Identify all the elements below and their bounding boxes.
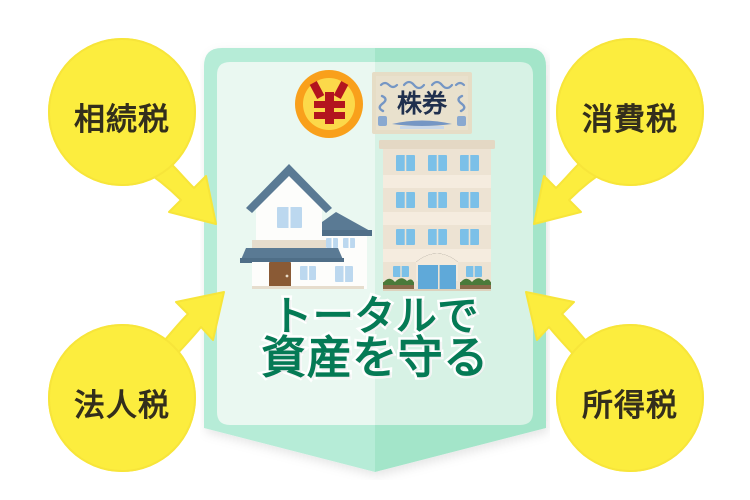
callout-income-tax[interactable]: 所得税 xyxy=(520,268,720,478)
callout-consumption-tax[interactable]: 消費税 xyxy=(520,28,720,238)
center-caption: トータルで 資産を守る xyxy=(200,296,550,381)
callout-label: 相続税 xyxy=(48,94,196,139)
callout-inheritance-tax[interactable]: 相続税 xyxy=(30,28,230,238)
callout-label: 法人税 xyxy=(48,380,196,425)
callout-label: 所得税 xyxy=(556,380,704,425)
shield-panel xyxy=(200,40,550,480)
infographic-canvas: 株券 xyxy=(0,0,750,500)
shield-shape xyxy=(200,40,550,480)
caption-line-2: 資産を守る xyxy=(200,335,550,381)
callout-corporate-tax[interactable]: 法人税 xyxy=(30,268,230,478)
callout-label: 消費税 xyxy=(556,94,704,139)
